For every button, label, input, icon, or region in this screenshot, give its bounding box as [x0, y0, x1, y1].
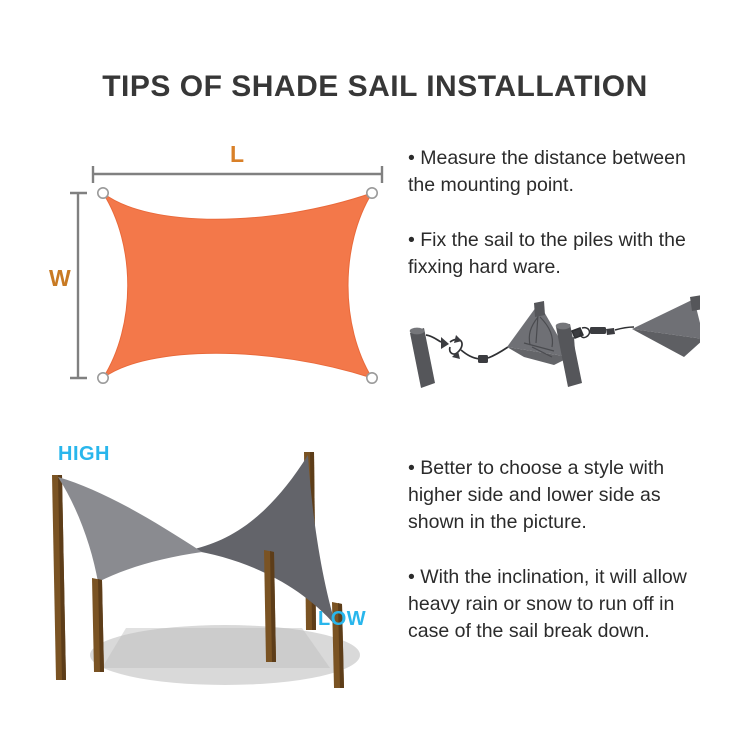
length-label: L [230, 141, 244, 168]
low-label: LOW [318, 608, 366, 631]
high-label: HIGH [58, 443, 110, 466]
tip-inclination-text-1: With the inclination, it will allow [415, 566, 687, 588]
tip-style: • Better to choose a style with higher s… [408, 455, 700, 536]
tip-measure-line-2: the mounting point. [408, 172, 700, 199]
page-title: TIPS OF SHADE SAIL INSTALLATION [0, 70, 750, 104]
sail-corner-section [632, 295, 700, 357]
tip-style-line-1: • Better to choose a style with [408, 455, 700, 482]
bullet-icon: • [408, 229, 415, 251]
bullet-icon: • [408, 147, 415, 169]
bullet-icon: • [408, 457, 415, 479]
tip-measure: • Measure the distance between the mount… [408, 145, 700, 199]
tip-style-line-3: shown in the picture. [408, 509, 700, 536]
tip-measure-text-1: Measure the distance between [415, 147, 686, 169]
turnbuckle-icon [426, 335, 508, 363]
tip-fix-text-1: Fix the sail to the piles with the [415, 229, 686, 251]
tip-inclination-line-3: case of the sail break down. [408, 618, 700, 645]
sail-light [58, 477, 202, 582]
tip-inclination-line-1: • With the inclination, it will allow [408, 564, 700, 591]
pole-front-left [92, 578, 104, 672]
tip-style-line-2: higher side and lower side as [408, 482, 700, 509]
pole-mid-right [264, 550, 276, 662]
pole-high-left [52, 475, 66, 680]
orange-sail-shape [103, 193, 372, 378]
inclined-sail-svg [30, 430, 410, 710]
length-dimension-line [93, 166, 382, 183]
hardware-illustration-2 [556, 295, 700, 387]
tip-inclination-line-2: heavy rain or snow to run off in [408, 591, 700, 618]
top-right-content: • Measure the distance between the mount… [408, 145, 700, 405]
hardware-illustrations-svg [408, 295, 700, 405]
width-label: W [49, 265, 71, 292]
tip-fix: • Fix the sail to the piles with the fix… [408, 227, 700, 281]
patch-post-left [534, 301, 545, 317]
carabiner-chain-icon [572, 327, 634, 338]
rect-sail-diagram: L W [40, 140, 405, 405]
ground-shadow-2 [102, 628, 330, 668]
inclined-sail-diagram: HIGH LOW [30, 430, 410, 710]
tip-measure-line-1: • Measure the distance between [408, 145, 700, 172]
tip-inclination: • With the inclination, it will allow he… [408, 564, 700, 645]
width-dimension-line [70, 193, 87, 378]
bullet-icon: • [408, 566, 415, 588]
hardware-illustration-1 [410, 301, 577, 388]
bottom-right-content: • Better to choose a style with higher s… [408, 455, 700, 670]
tip-fix-line-2: fixxing hard ware. [408, 254, 700, 281]
poster-root: TIPS OF SHADE SAIL INSTALLATION [0, 0, 750, 750]
tip-style-text-1: Better to choose a style with [415, 457, 664, 479]
rect-sail-svg [40, 140, 405, 405]
tip-fix-line-1: • Fix the sail to the piles with the [408, 227, 700, 254]
